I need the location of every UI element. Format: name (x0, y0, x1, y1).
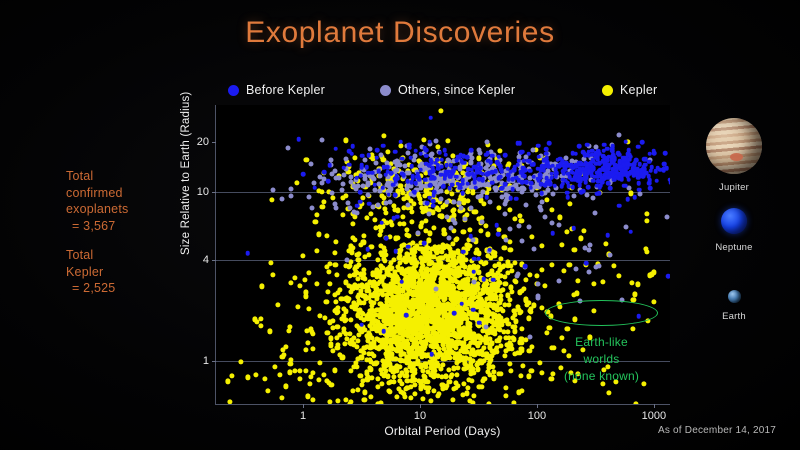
scatter-point (362, 397, 367, 402)
scatter-point (286, 145, 291, 150)
scatter-point (340, 212, 345, 217)
scatter-point (539, 168, 544, 173)
scatter-point (328, 336, 333, 341)
scatter-point (367, 202, 372, 207)
scatter-point (289, 280, 294, 285)
scatter-point (616, 151, 621, 156)
scatter-point (478, 291, 483, 296)
scatter-point (409, 164, 414, 169)
scatter-point (473, 185, 478, 190)
scatter-point (400, 156, 405, 161)
scatter-point (516, 271, 521, 276)
scatter-point (451, 168, 456, 173)
scatter-point (293, 368, 298, 373)
scatter-point (393, 249, 398, 254)
scatter-point (483, 324, 488, 329)
scatter-point (393, 177, 398, 182)
scatter-point (365, 165, 370, 170)
scatter-point (516, 390, 521, 395)
scatter-point (631, 173, 636, 178)
scatter-point (401, 214, 406, 219)
scatter-point (479, 219, 484, 224)
scatter-point (596, 179, 601, 184)
scatter-point (527, 224, 532, 229)
scatter-point (511, 337, 516, 342)
scatter-point (455, 236, 460, 241)
earth-planet-icon (728, 290, 741, 303)
scatter-point (443, 152, 448, 157)
scatter-point (471, 270, 476, 275)
scatter-point (399, 279, 404, 284)
scatter-point (545, 181, 550, 186)
scatter-point (322, 170, 327, 175)
scatter-point (454, 373, 459, 378)
scatter-point (533, 192, 538, 197)
earthlike-worlds-label: Earth-like worlds (none known) (545, 334, 658, 385)
scatter-point (458, 205, 463, 210)
scatter-point (368, 211, 373, 216)
scatter-point (454, 175, 459, 180)
scatter-point (601, 149, 606, 154)
scatter-point (392, 379, 397, 384)
scatter-point (502, 245, 507, 250)
scatter-point (413, 153, 418, 158)
scatter-point (469, 378, 474, 383)
scatter-point (550, 192, 555, 197)
scatter-point (625, 162, 630, 167)
scatter-point (404, 313, 409, 318)
scatter-point (452, 199, 457, 204)
scatter-point (368, 395, 373, 400)
scatter-point (512, 216, 517, 221)
stat-line: confirmed (66, 185, 128, 202)
earthlike-line: Earth-like (545, 334, 658, 351)
scatter-point (398, 365, 403, 370)
scatter-point (343, 138, 348, 143)
scatter-point (406, 245, 411, 250)
scatter-point (471, 280, 476, 285)
scatter-point (499, 343, 504, 348)
scatter-point (306, 271, 311, 276)
scatter-point (343, 156, 348, 161)
scatter-point (564, 229, 569, 234)
scatter-point (520, 326, 525, 331)
scatter-point (268, 260, 273, 265)
scatter-point (277, 372, 282, 377)
scatter-point (451, 207, 456, 212)
scatter-point (505, 270, 510, 275)
scatter-point (507, 207, 512, 212)
scatter-point (317, 378, 322, 383)
scatter-point (640, 140, 645, 145)
x-axis-title: Orbital Period (Days) (215, 424, 670, 438)
scatter-point (467, 172, 472, 177)
scatter-point (445, 138, 450, 143)
scatter-point (444, 385, 449, 390)
scatter-point (486, 402, 491, 404)
scatter-point (496, 232, 501, 237)
scatter-point (567, 262, 572, 267)
scatter-point (481, 277, 486, 282)
scatter-point (325, 330, 330, 335)
y-tick-label: 1 (203, 355, 209, 367)
scatter-point (570, 170, 575, 175)
scatter-point (591, 179, 596, 184)
scatter-point (648, 186, 653, 191)
scatter-point (655, 179, 660, 184)
scatter-point (517, 224, 522, 229)
scatter-point (265, 388, 270, 393)
scatter-point (328, 157, 333, 162)
scatter-point (565, 327, 570, 332)
scatter-point (490, 153, 495, 158)
scatter-point (566, 184, 571, 189)
scatter-point (521, 166, 526, 171)
scatter-point (460, 160, 465, 165)
scatter-point (393, 193, 398, 198)
scatter-point (500, 308, 505, 313)
scatter-point (375, 148, 380, 153)
planet-reference-earth: Earth (678, 290, 790, 322)
scatter-point (491, 277, 496, 282)
scatter-point (461, 200, 466, 205)
scatter-point (431, 204, 436, 209)
scatter-point (302, 277, 307, 282)
scatter-point (510, 187, 515, 192)
scatter-point (647, 181, 652, 186)
scatter-point (469, 205, 474, 210)
scatter-point (559, 242, 564, 247)
scatter-point (527, 273, 532, 278)
scatter-point (432, 190, 437, 195)
scatter-point (356, 262, 361, 267)
scatter-point (450, 242, 455, 247)
scatter-point (342, 173, 347, 178)
legend-label-before-kepler: Before Kepler (246, 83, 325, 97)
scatter-point (405, 227, 410, 232)
scatter-point (445, 171, 450, 176)
scatter-point (333, 176, 338, 181)
scatter-point (360, 378, 365, 383)
scatter-point (309, 161, 314, 166)
scatter-point (512, 312, 517, 317)
scatter-point (358, 173, 363, 178)
scatter-point (549, 220, 554, 225)
scatter-point (450, 218, 455, 223)
scatter-point (594, 265, 599, 270)
scatter-point (528, 334, 533, 339)
scatter-point (571, 185, 576, 190)
scatter-point (413, 391, 418, 396)
scatter-point (520, 149, 525, 154)
scatter-point (401, 173, 406, 178)
scatter-point (535, 274, 540, 279)
scatter-point (617, 203, 622, 208)
scatter-point (607, 252, 612, 257)
scatter-point (476, 156, 481, 161)
scatter-point (553, 183, 558, 188)
scatter-point (450, 183, 455, 188)
scatter-point (378, 174, 383, 179)
scatter-point (556, 223, 561, 228)
scatter-point (225, 379, 230, 384)
scatter-point (227, 399, 232, 404)
scatter-point (507, 302, 512, 307)
scatter-point (666, 274, 670, 279)
scatter-point (439, 196, 444, 201)
scatter-point (581, 150, 586, 155)
scatter-point (489, 341, 494, 346)
scatter-point (539, 268, 544, 273)
scatter-point (280, 354, 285, 359)
scatter-point (539, 200, 544, 205)
scatter-point (503, 394, 508, 399)
scatter-point (429, 158, 434, 163)
scatter-point (538, 176, 543, 181)
scatter-point (564, 161, 569, 166)
neptune-planet-icon (721, 208, 747, 234)
scatter-point (635, 282, 640, 287)
scatter-point (317, 361, 322, 366)
scatter-point (419, 151, 424, 156)
scatter-point (565, 190, 570, 195)
scatter-point (423, 146, 428, 151)
scatter-point (380, 185, 385, 190)
planet-reference-jupiter: Jupiter (678, 118, 790, 193)
scatter-point (507, 177, 512, 182)
scatter-point (584, 175, 589, 180)
scatter-point (259, 316, 264, 321)
scatter-point (402, 221, 407, 226)
scatter-point (322, 373, 327, 378)
scatter-point (531, 247, 536, 252)
scatter-point (429, 352, 434, 357)
scatter-point (356, 332, 361, 337)
scatter-point (483, 223, 488, 228)
scatter-point (311, 397, 316, 402)
scatter-point (229, 374, 234, 379)
scatter-point (452, 311, 457, 316)
scatter-point (547, 141, 552, 146)
scatter-point (355, 365, 360, 370)
scatter-point (334, 272, 339, 277)
scatter-point (532, 175, 537, 180)
scatter-point (333, 147, 338, 152)
scatter-point (493, 250, 498, 255)
scatter-point (477, 320, 482, 325)
scatter-point (348, 318, 353, 323)
scatter-point (428, 184, 433, 189)
scatter-point (625, 197, 630, 202)
scatter-point (395, 235, 400, 240)
scatter-point (362, 301, 367, 306)
scatter-point (466, 277, 471, 282)
scatter-point (326, 270, 331, 275)
scatter-point (375, 202, 380, 207)
scatter-point (412, 190, 417, 195)
scatter-point (346, 201, 351, 206)
scatter-point (332, 368, 337, 373)
scatter-point (362, 255, 367, 260)
scatter-point (452, 229, 457, 234)
scatter-point (557, 215, 562, 220)
scatter-point (656, 165, 661, 170)
scatter-point (347, 402, 352, 404)
scatter-point (482, 202, 487, 207)
scatter-point (624, 139, 629, 144)
scatter-point (321, 199, 326, 204)
stat-value: = 3,567 (66, 218, 128, 235)
scatter-point (527, 152, 532, 157)
scatter-point (368, 346, 373, 351)
scatter-point (380, 221, 385, 226)
x-tick-mark (537, 404, 538, 408)
scatter-point (520, 186, 525, 191)
scatter-point (392, 216, 397, 221)
scatter-point (407, 142, 412, 147)
scatter-point (610, 144, 615, 149)
scatter-point (475, 195, 480, 200)
scatter-point (359, 163, 364, 168)
scatter-point (297, 283, 302, 288)
scatter-point (482, 376, 487, 381)
scatter-point (504, 238, 509, 243)
scatter-point (651, 299, 656, 304)
scatter-point (336, 398, 341, 403)
scatter-point (327, 262, 332, 267)
scatter-point (352, 156, 357, 161)
scatter-point (479, 360, 484, 365)
scatter-point (540, 370, 545, 375)
scatter-point (315, 248, 320, 253)
scatter-point (402, 163, 407, 168)
scatter-point (508, 196, 513, 201)
scatter-point (487, 200, 492, 205)
scatter-point (398, 144, 403, 149)
scatter-point (490, 170, 495, 175)
scatter-point (491, 350, 496, 355)
scatter-point (633, 292, 638, 297)
scatter-point (565, 195, 570, 200)
scatter-point (539, 305, 544, 310)
scatter-point (480, 177, 485, 182)
scatter-point (472, 353, 477, 358)
scatter-point (372, 217, 377, 222)
scatter-point (415, 171, 420, 176)
jupiter-great-red-spot-icon (730, 153, 743, 161)
scatter-point (485, 172, 490, 177)
scatter-point (384, 236, 389, 241)
scatter-point (439, 158, 444, 163)
scatter-point (572, 226, 577, 231)
scatter-point (461, 182, 466, 187)
scatter-point (450, 397, 455, 402)
scatter-point (530, 235, 535, 240)
scatter-point (600, 175, 605, 180)
scatter-point (514, 197, 519, 202)
scatter-point (570, 151, 575, 156)
scatter-point (503, 386, 508, 391)
scatter-point (288, 194, 293, 199)
scatter-point (497, 301, 502, 306)
scatter-point (605, 233, 610, 238)
scatter-point (422, 138, 427, 143)
scatter-point (300, 253, 305, 258)
legend-item-others-since-kepler[interactable]: Others, since Kepler (380, 80, 515, 100)
scatter-point (550, 163, 555, 168)
scatter-point (471, 308, 476, 313)
scatter-point (358, 190, 363, 195)
legend-item-before-kepler[interactable]: Before Kepler (228, 80, 325, 100)
scatter-point (508, 248, 513, 253)
scatter-point (585, 193, 590, 198)
scatter-point (445, 158, 450, 163)
scatter-point (258, 324, 263, 329)
scatter-point (536, 281, 541, 286)
scatter-point (517, 178, 522, 183)
scatter-point (344, 257, 349, 262)
scatter-point (463, 216, 468, 221)
scatter-point (507, 361, 512, 366)
scatter-point (413, 370, 418, 375)
scatter-point (288, 187, 293, 192)
scatter-point (295, 304, 300, 309)
scatter-point (508, 369, 513, 374)
scatter-point (600, 180, 605, 185)
scatter-point (520, 239, 525, 244)
scatter-point (325, 290, 330, 295)
scatter-point (333, 292, 338, 297)
scatter-point (328, 399, 333, 404)
legend-item-kepler[interactable]: Kepler (602, 80, 657, 100)
scatter-point (370, 171, 375, 176)
scatter-point (643, 157, 648, 162)
scatter-point (608, 186, 613, 191)
scatter-point (606, 166, 611, 171)
scatter-point (329, 172, 334, 177)
scatter-point (436, 393, 441, 398)
scatter-point (471, 393, 476, 398)
scatter-point (497, 148, 502, 153)
scatter-point (512, 400, 517, 404)
scatter-point (245, 251, 250, 256)
scatter-point (624, 224, 629, 229)
scatter-point (587, 169, 592, 174)
scatter-point (262, 377, 267, 382)
scatter-point (288, 324, 293, 329)
scatter-point (320, 204, 325, 209)
scatter-point (622, 184, 627, 189)
scatter-point (468, 234, 473, 239)
scatter-point (365, 247, 370, 252)
scatter-point (439, 173, 444, 178)
scatter-point (606, 390, 611, 395)
scatter-point (384, 201, 389, 206)
scatter-point (583, 171, 588, 176)
scatter-point (444, 215, 449, 220)
scatter-point (410, 174, 415, 179)
scatter-point (465, 386, 470, 391)
scatter-point (460, 191, 465, 196)
scatter-point (399, 243, 404, 248)
scatter-point (472, 174, 477, 179)
scatter-point (373, 160, 378, 165)
scatter-point (542, 283, 547, 288)
scatter-point (336, 343, 341, 348)
scatter-point (381, 134, 386, 139)
scatter-point (531, 162, 536, 167)
scatter-point (584, 261, 589, 266)
